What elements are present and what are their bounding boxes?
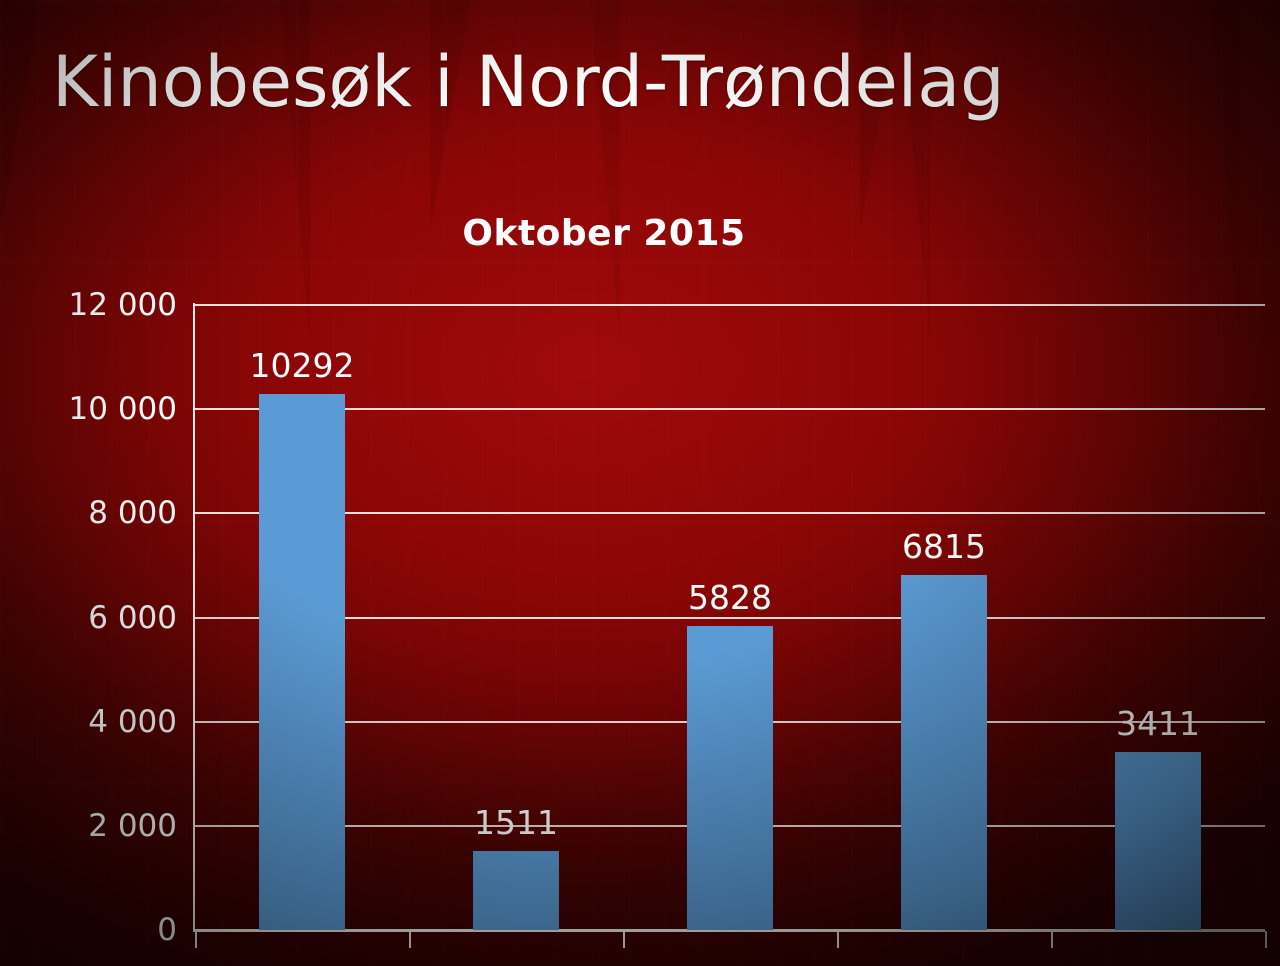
presentation-slide: Kinobesøk i Nord-Trøndelag Oktober 2015 …	[0, 0, 1280, 966]
x-axis-tick	[1265, 931, 1267, 948]
y-axis-tick-label: 12 000	[0, 287, 177, 323]
y-axis-tick-label: 4 000	[0, 704, 177, 740]
bar-chart: Oktober 2015 02 0004 0006 0008 00010 000…	[0, 0, 1280, 966]
y-axis-tick-label: 0	[0, 912, 177, 948]
bar[interactable]	[1115, 752, 1201, 930]
x-axis-tick	[1051, 931, 1053, 948]
y-axis-tick-label: 10 000	[0, 391, 177, 427]
chart-title: Oktober 2015	[0, 213, 1244, 254]
bar[interactable]	[687, 626, 773, 930]
bar-value-label: 3411	[1116, 704, 1200, 743]
bar-value-label: 5828	[688, 578, 772, 617]
y-axis-tick-label: 2 000	[0, 808, 177, 844]
bar-value-label: 6815	[902, 527, 986, 566]
bar-value-label: 10292	[250, 346, 355, 385]
bar[interactable]	[473, 851, 559, 930]
gridline	[195, 512, 1265, 514]
bar[interactable]	[259, 394, 345, 930]
y-axis-tick-label: 6 000	[0, 600, 177, 636]
gridline	[195, 408, 1265, 410]
x-axis-tick	[409, 931, 411, 948]
bar-value-label: 1511	[474, 803, 558, 842]
x-axis-tick	[837, 931, 839, 948]
x-axis-tick	[623, 931, 625, 948]
x-axis-tick	[195, 931, 197, 948]
plot-area: 02 0004 0006 0008 00010 00012 0001029215…	[195, 305, 1265, 930]
y-axis-tick-label: 8 000	[0, 495, 177, 531]
gridline	[195, 304, 1265, 306]
bar[interactable]	[901, 575, 987, 930]
